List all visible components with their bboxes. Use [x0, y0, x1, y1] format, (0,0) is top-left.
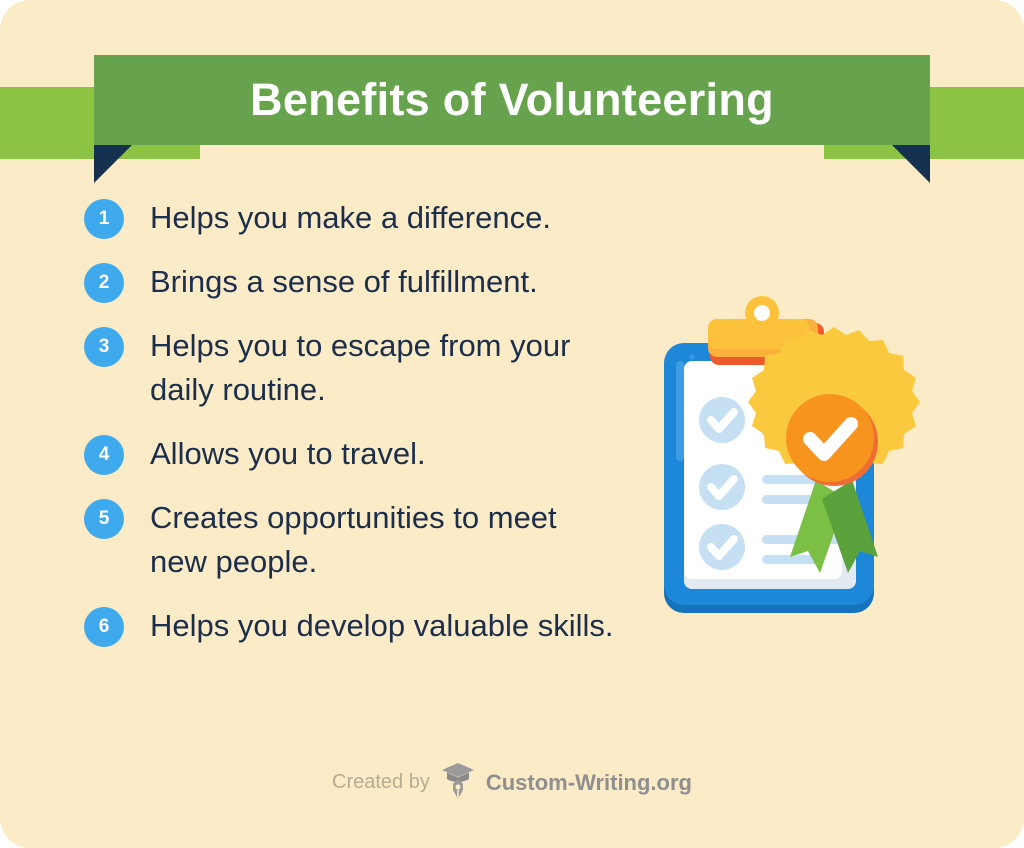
list-item-number-badge: 2 [84, 263, 124, 303]
clipboard-award-illustration [640, 295, 940, 635]
list-item: 4 Allows you to travel. [84, 432, 644, 476]
list-item-number-badge: 3 [84, 327, 124, 367]
list-item-text: Helps you to escape from your daily rout… [150, 324, 620, 412]
list-item-number-badge: 1 [84, 199, 124, 239]
clipboard-dot-icon [690, 355, 695, 360]
footer-created-label: Created by [332, 771, 430, 794]
list-item-text: Helps you make a difference. [150, 196, 551, 240]
list-item: 1 Helps you make a difference. [84, 196, 644, 240]
list-item: 5 Creates opportunities to meet new peop… [84, 496, 644, 584]
list-item-text: Creates opportunities to meet new people… [150, 496, 620, 584]
benefits-list: 1 Helps you make a difference. 2 Brings … [84, 196, 644, 668]
list-item-number-badge: 5 [84, 499, 124, 539]
list-item-number-badge: 4 [84, 435, 124, 475]
list-item: 3 Helps you to escape from your daily ro… [84, 324, 644, 412]
list-item-number-badge: 6 [84, 607, 124, 647]
footer-attribution: Created by Custom-Writing.org [0, 760, 1024, 805]
banner: Benefits of Volunteering [0, 55, 1024, 180]
ribbon-fold-left [94, 145, 132, 183]
banner-body: Benefits of Volunteering [94, 55, 930, 145]
list-item-text: Allows you to travel. [150, 432, 426, 476]
list-item: 2 Brings a sense of fulfillment. [84, 260, 644, 304]
clipboard-highlight-icon [676, 361, 684, 461]
infographic-canvas: Benefits of Volunteering 1 Helps you mak… [0, 0, 1024, 848]
list-item-text: Helps you develop valuable skills. [150, 604, 614, 648]
graduation-cap-pen-nib-icon [441, 760, 475, 805]
footer-brand-name: Custom-Writing.org [486, 770, 692, 796]
page-title: Benefits of Volunteering [250, 74, 774, 126]
clip-ring-hole-icon [754, 305, 770, 321]
list-item: 6 Helps you develop valuable skills. [84, 604, 644, 648]
ribbon-fold-right [892, 145, 930, 183]
list-item-text: Brings a sense of fulfillment. [150, 260, 538, 304]
